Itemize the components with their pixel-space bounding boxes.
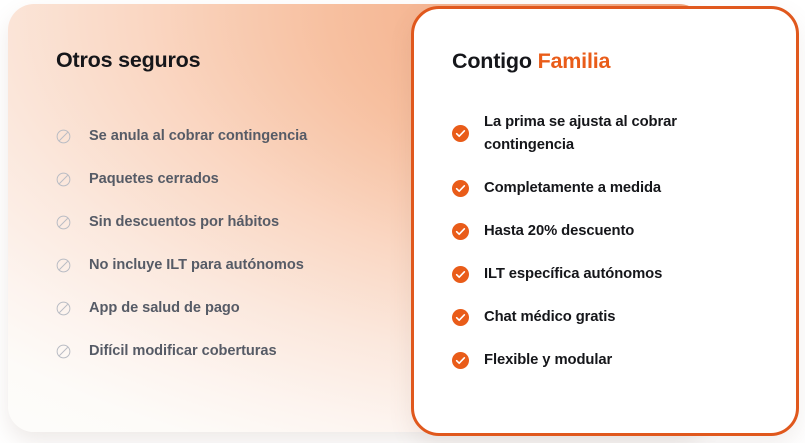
list-item: Chat médico gratis — [452, 296, 796, 339]
list-item-label: No incluye ILT para autónomos — [89, 256, 304, 275]
check-circle-icon — [452, 352, 469, 369]
list-item-label: Se anula al cobrar contingencia — [89, 127, 307, 146]
contigo-familia-title: Contigo Familia — [452, 49, 796, 75]
list-item: Hasta 20% descuento — [452, 210, 796, 253]
other-insurance-title: Otros seguros — [56, 48, 428, 74]
list-item: ILT específica autónomos — [452, 253, 796, 296]
list-item: Paquetes cerrados — [56, 158, 428, 201]
ban-icon — [56, 172, 71, 187]
comparison-stage: Otros seguros Se anula al cobrar conting… — [0, 0, 805, 443]
ban-icon — [56, 258, 71, 273]
list-item: Se anula al cobrar contingencia — [56, 115, 428, 158]
contigo-familia-content: Contigo Familia La prima se ajusta al co… — [414, 9, 796, 382]
ban-icon — [56, 129, 71, 144]
list-item-label: Completamente a medida — [484, 177, 661, 200]
list-item-label: App de salud de pago — [89, 299, 240, 318]
list-item-label: ILT específica autónomos — [484, 263, 662, 286]
ban-icon — [56, 301, 71, 316]
check-circle-icon — [452, 309, 469, 326]
contigo-familia-card: Contigo Familia La prima se ajusta al co… — [411, 6, 799, 436]
list-item-label: Flexible y modular — [484, 349, 612, 372]
title-primary-text: Contigo — [452, 49, 532, 73]
list-item: La prima se ajusta al cobrar contingenci… — [452, 101, 796, 167]
other-insurance-content: Otros seguros Se anula al cobrar conting… — [8, 4, 428, 432]
check-circle-icon — [452, 266, 469, 283]
list-item: No incluye ILT para autónomos — [56, 244, 428, 287]
check-circle-icon — [452, 125, 469, 142]
list-item-label: Sin descuentos por hábitos — [89, 213, 279, 232]
list-item: Flexible y modular — [452, 339, 796, 382]
list-item: Sin descuentos por hábitos — [56, 201, 428, 244]
list-item-label: Chat médico gratis — [484, 306, 615, 329]
list-item-label: La prima se ajusta al cobrar contingenci… — [484, 111, 716, 157]
check-circle-icon — [452, 223, 469, 240]
other-insurance-list: Se anula al cobrar contingencia Paquetes… — [56, 115, 428, 373]
list-item-label: Paquetes cerrados — [89, 170, 219, 189]
contigo-familia-list: La prima se ajusta al cobrar contingenci… — [452, 101, 796, 382]
check-circle-icon — [452, 180, 469, 197]
list-item-label: Difícil modificar coberturas — [89, 342, 277, 361]
list-item: App de salud de pago — [56, 287, 428, 330]
ban-icon — [56, 344, 71, 359]
list-item: Difícil modificar coberturas — [56, 330, 428, 373]
title-accent-text: Familia — [538, 49, 611, 73]
list-item-label: Hasta 20% descuento — [484, 220, 634, 243]
list-item: Completamente a medida — [452, 167, 796, 210]
ban-icon — [56, 215, 71, 230]
